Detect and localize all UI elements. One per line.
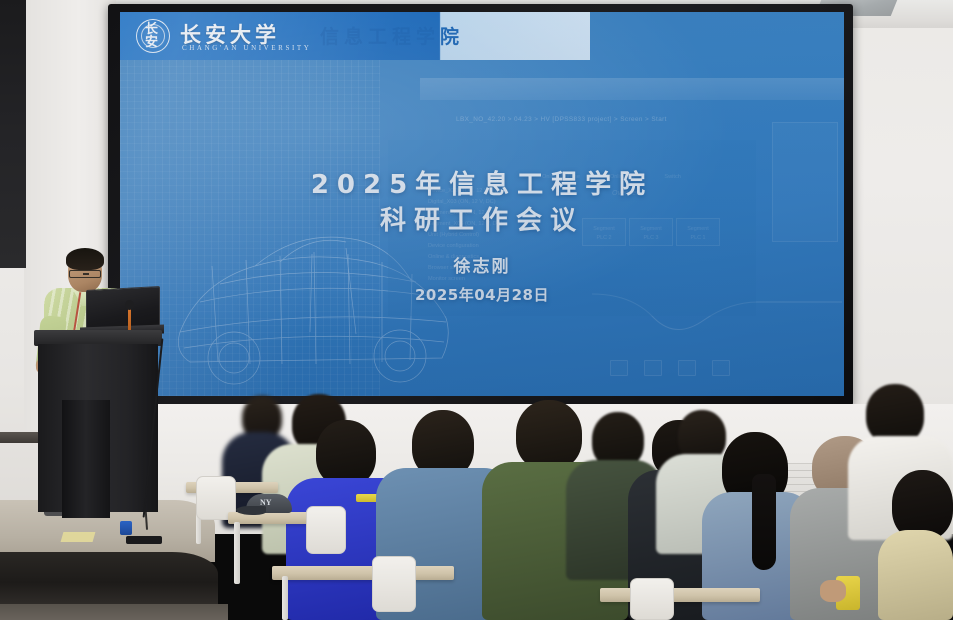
slide-speaker-name: 徐志刚 [120, 252, 844, 277]
university-seal-icon: 长安 [136, 19, 170, 53]
lecture-hall-photo: LBX_NO_42.20 > 04.23 > HV [DPSS833 proje… [0, 0, 953, 620]
phone-in-hand [836, 576, 860, 610]
wall-air-vent [760, 463, 834, 505]
university-name-en: CHANG'AN UNIVERSITY [182, 44, 311, 52]
presentation-screen[interactable]: LBX_NO_42.20 > 04.23 > HV [DPSS833 proje… [120, 12, 844, 396]
seal-glyph: 长安 [145, 23, 161, 49]
microphone-icon [125, 300, 134, 310]
note-paper [61, 532, 96, 542]
slide-title-line1: 2025年信息工程学院 [120, 164, 844, 201]
chair-back [372, 556, 416, 612]
hand [820, 580, 846, 602]
left-dark-column [0, 0, 26, 268]
podium-column [62, 400, 110, 518]
desk [600, 588, 760, 602]
department-name-cn: 信息工程学院 [320, 22, 464, 49]
desk-leg [282, 576, 288, 620]
floor [0, 604, 228, 620]
slide-title-block: 2025年信息工程学院 科研工作会议 徐志刚 2025年04月28日 [120, 12, 844, 396]
chair-back [630, 578, 674, 620]
presenter-hair [66, 248, 104, 270]
torso [878, 530, 953, 620]
university-banner: 长安 长安大学 CHANG'AN UNIVERSITY 信息工程学院 [120, 12, 590, 60]
power-strip [126, 536, 162, 544]
blue-cup [120, 521, 132, 535]
slide-title-line2: 科研工作会议 [120, 200, 844, 237]
glasses-icon [69, 270, 101, 278]
slide-date: 2025年04月28日 [120, 284, 844, 305]
desk [272, 566, 454, 580]
